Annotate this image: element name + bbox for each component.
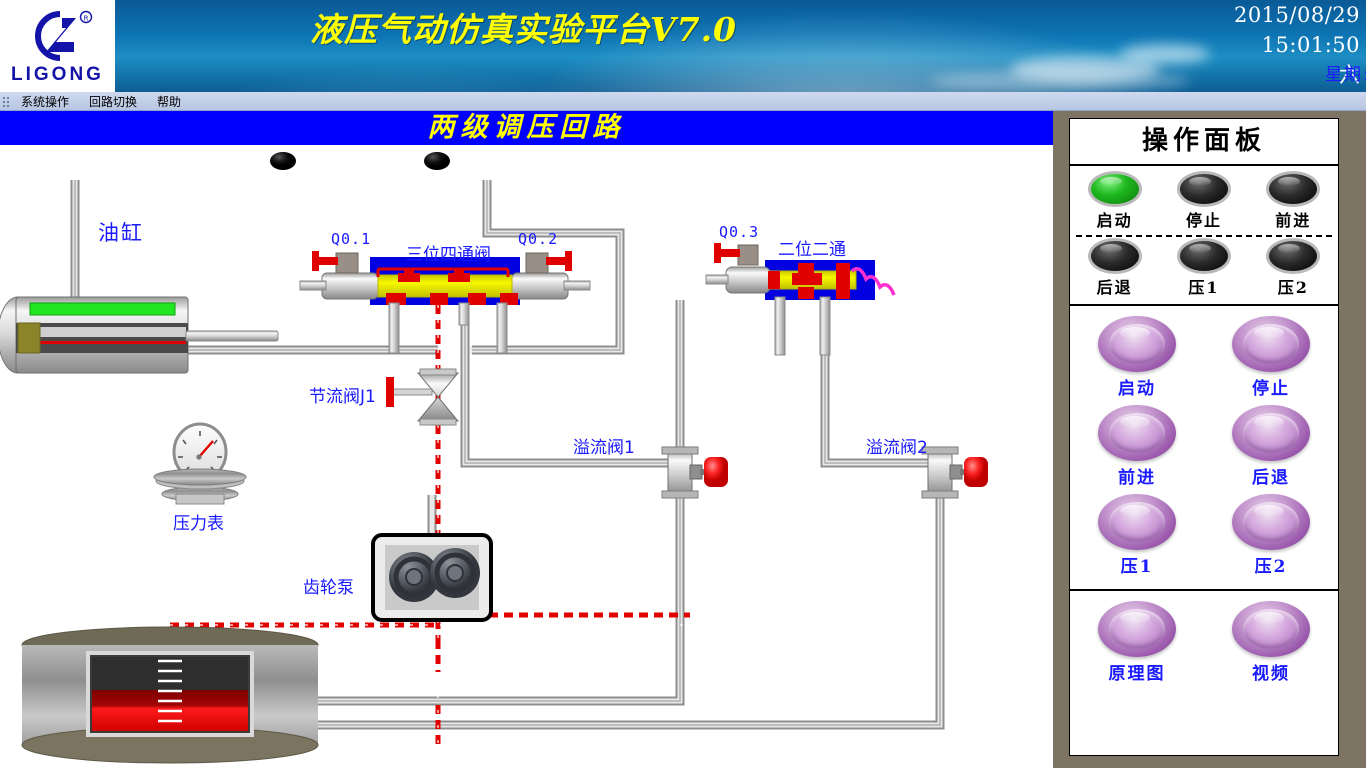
button-cell-start[interactable]: 启动 — [1082, 316, 1192, 399]
lamp-pressure2-icon — [1269, 241, 1317, 271]
weekday-label: 星期: — [1325, 60, 1366, 90]
button-cell-pressure1[interactable]: 压1 — [1082, 494, 1192, 577]
button-label-pressure2: 压2 — [1216, 552, 1326, 577]
button-label-stop: 停止 — [1216, 374, 1326, 399]
label-cylinder: 油缸 — [98, 217, 144, 247]
lamp-row-1: 启动 停止 前进 — [1070, 174, 1338, 231]
lamp-cell-backward: 后退 — [1073, 241, 1157, 298]
label-q02: Q0.2 — [518, 230, 558, 248]
button-cell-pressure2[interactable]: 压2 — [1216, 494, 1326, 577]
lamp-cell-start: 启动 — [1073, 174, 1157, 231]
logo-mark-icon: R — [16, 8, 100, 64]
label-pressure-gauge: 压力表 — [173, 509, 224, 534]
circuit-title-banner: 两级调压回路 — [0, 111, 1053, 145]
solenoid-q02 — [526, 251, 572, 273]
lamp-divider-dashed — [1076, 235, 1332, 237]
button-cell-schematic[interactable]: 原理图 — [1082, 601, 1192, 684]
label-q01: Q0.1 — [331, 230, 371, 248]
lamp-forward-icon — [1269, 174, 1317, 204]
button-label-forward: 前进 — [1082, 463, 1192, 488]
label-gear-pump: 齿轮泵 — [303, 573, 354, 598]
lamp-stop-icon — [1180, 174, 1228, 204]
solenoid-q01 — [312, 251, 358, 273]
lamp-label-start: 启动 — [1073, 207, 1157, 231]
clock-date: 2015/08/29 — [1136, 0, 1360, 30]
lamp-cell-forward: 前进 — [1251, 174, 1335, 231]
button-cell-forward[interactable]: 前进 — [1082, 405, 1192, 488]
lamp-label-forward: 前进 — [1251, 207, 1335, 231]
button-stop[interactable] — [1232, 316, 1310, 372]
button-cell-backward[interactable]: 后退 — [1216, 405, 1326, 488]
push-button-section: 启动 停止 前进 后退 压1 压2 — [1070, 306, 1338, 589]
button-forward[interactable] — [1098, 405, 1176, 461]
button-schematic[interactable] — [1098, 601, 1176, 657]
lamp-cell-stop: 停止 — [1162, 174, 1246, 231]
relief-valve-2 — [922, 447, 988, 498]
indicator-lamp-section: 启动 停止 前进 后退 压1 压2 — [1070, 166, 1338, 304]
lamp-label-pressure1: 压1 — [1162, 274, 1246, 298]
menu-item-circuit-switch[interactable]: 回路切换 — [82, 92, 144, 111]
button-pressure2[interactable] — [1232, 494, 1310, 550]
throttle-valve — [386, 369, 458, 425]
button-backward[interactable] — [1232, 405, 1310, 461]
label-valve-2way: 二位二通 — [778, 235, 846, 260]
oil-tank — [22, 627, 318, 763]
lamp-row-2: 后退 压1 压2 — [1070, 241, 1338, 298]
button-row-1: 启动 停止 — [1070, 316, 1338, 399]
operation-panel-title: 操作面板 — [1070, 119, 1338, 166]
gear-pump — [373, 535, 491, 620]
oil-cylinder — [0, 297, 278, 373]
label-throttle-valve: 节流阀J1 — [309, 382, 376, 407]
ligong-logo: R LIGONG — [0, 0, 115, 92]
menu-item-system-operation[interactable]: 系统操作 — [14, 92, 76, 111]
button-row-2: 前进 后退 — [1070, 405, 1338, 488]
button-label-backward: 后退 — [1216, 463, 1326, 488]
label-q03: Q0.3 — [719, 223, 759, 241]
logo-wordmark: LIGONG — [11, 65, 104, 84]
valve-4way-3position — [300, 251, 590, 353]
lamp-start-icon — [1091, 174, 1139, 204]
media-button-section: 原理图 视频 — [1070, 591, 1338, 696]
menu-grip-icon[interactable] — [2, 95, 10, 108]
hydraulic-circuit-diagram: 油缸 Q0.1 Q0.2 三位四通阀 Q0.3 二位二通 节流阀J1 溢流阀1 … — [0, 145, 1053, 768]
lamp-label-backward: 后退 — [1073, 274, 1157, 298]
button-cell-video[interactable]: 视频 — [1216, 601, 1326, 684]
label-relief-valve-2: 溢流阀2 — [866, 433, 928, 458]
app-header: R LIGONG 液压气动仿真实验平台V7.0 2015/08/29 15:01… — [0, 0, 1366, 92]
port-blob — [424, 152, 450, 170]
pressure-gauge — [154, 424, 246, 504]
button-video[interactable] — [1232, 601, 1310, 657]
button-cell-stop[interactable]: 停止 — [1216, 316, 1326, 399]
app-title: 液压气动仿真实验平台V7.0 — [310, 4, 890, 56]
button-label-start: 启动 — [1082, 374, 1192, 399]
lamp-label-pressure2: 压2 — [1251, 274, 1335, 298]
svg-text:R: R — [83, 15, 88, 23]
lamp-label-stop: 停止 — [1162, 207, 1246, 231]
button-start[interactable] — [1098, 316, 1176, 372]
button-row-3: 压1 压2 — [1070, 494, 1338, 577]
clock-time: 15:01:50 — [1136, 30, 1360, 60]
lamp-backward-icon — [1091, 241, 1139, 271]
solenoid-q03 — [714, 243, 758, 265]
button-label-video: 视频 — [1216, 659, 1326, 684]
button-pressure1[interactable] — [1098, 494, 1176, 550]
clock-widget: 2015/08/29 15:01:50 星期:六 — [1136, 0, 1366, 92]
label-relief-valve-1: 溢流阀1 — [573, 433, 635, 458]
relief-valve-1 — [662, 447, 728, 498]
label-valve-4way: 三位四通阀 — [406, 240, 491, 265]
menu-item-help[interactable]: 帮助 — [150, 92, 188, 111]
port-blob — [270, 152, 296, 170]
button-label-pressure1: 压1 — [1082, 552, 1192, 577]
clock-weekday: 星期:六 — [1136, 60, 1360, 90]
button-label-schematic: 原理图 — [1082, 659, 1192, 684]
lamp-cell-pressure1: 压1 — [1162, 241, 1246, 298]
gear-right — [430, 548, 480, 598]
menu-bar: 系统操作 回路切换 帮助 — [0, 92, 1366, 111]
operation-panel: 操作面板 启动 停止 前进 后退 压1 — [1069, 118, 1339, 756]
lamp-cell-pressure2: 压2 — [1251, 241, 1335, 298]
lamp-pressure1-icon — [1180, 241, 1228, 271]
button-row-4: 原理图 视频 — [1070, 601, 1338, 684]
